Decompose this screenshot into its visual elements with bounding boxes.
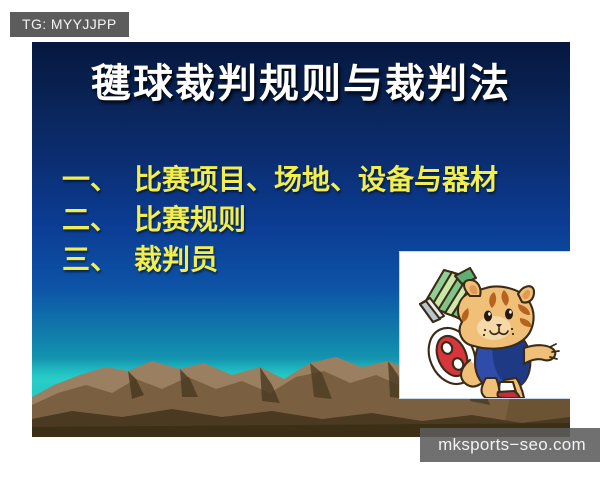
list-item: 一、 比赛项目、场地、设备与器材 — [62, 160, 560, 200]
list-item-number: 二、 — [62, 200, 134, 240]
slide-canvas: 毽球裁判规则与裁判法 一、 比赛项目、场地、设备与器材 二、 比赛规则 三、 裁… — [32, 42, 570, 437]
list-item-label: 比赛规则 — [134, 200, 246, 240]
site-watermark: mksports−seo.com — [420, 428, 600, 462]
tiger-cub-shuttlecock-illustration — [400, 252, 570, 398]
page-title: 毽球裁判规则与裁判法 — [32, 62, 570, 106]
list-item-number: 三、 — [62, 240, 134, 280]
list-item: 二、 比赛规则 — [62, 200, 560, 240]
list-item-label: 比赛项目、场地、设备与器材 — [134, 160, 498, 200]
mascot-image-frame — [400, 252, 570, 398]
tg-watermark-badge: TG: MYYJJPP — [10, 12, 129, 37]
list-item-label: 裁判员 — [134, 240, 218, 280]
list-item-number: 一、 — [62, 160, 134, 200]
